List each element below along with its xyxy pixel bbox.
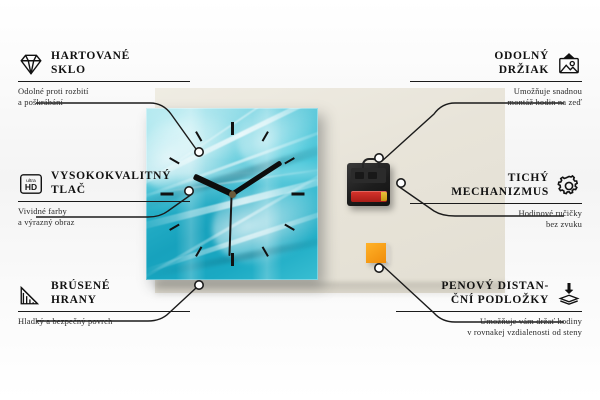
feature-desc-line2: a poškrábání <box>18 97 190 108</box>
feature-header: HARTOVANÉ SKLO <box>18 50 190 77</box>
feature-desc-line1: Umožňuje vám držať hodiny <box>396 316 582 327</box>
divider <box>396 311 582 312</box>
divider <box>410 81 582 82</box>
feature-header: ODOLNÝ DRŽIAK <box>410 50 582 77</box>
feature-desc-line1: Odolné proti rozbití <box>18 86 190 97</box>
divider <box>410 203 582 204</box>
infographic-canvas: HARTOVANÉ SKLO Odolné proti rozbití a po… <box>0 0 600 400</box>
beveled-edge-icon <box>18 281 44 307</box>
feature-desc-line2: montáž hodin na zeď <box>410 97 582 108</box>
battery-aa <box>351 191 387 202</box>
feature-hd-print: ultra HD VYSOKOKVALITNÝ TLAČ Vividné far… <box>18 170 190 228</box>
feature-desc-line1: Hodinové ručičky <box>410 208 582 219</box>
mechanism-body-plate <box>351 168 386 183</box>
divider <box>18 81 190 82</box>
divider <box>18 311 190 312</box>
feature-title: ODOLNÝ DRŽIAK <box>494 50 549 77</box>
feature-title: VYSOKOKVALITNÝ TLAČ <box>51 170 171 197</box>
feature-title: TICHÝ MECHANIZMUS <box>451 172 549 199</box>
feature-desc-line1: Umožňuje snadnou <box>410 86 582 97</box>
feature-header: TICHÝ MECHANIZMUS <box>410 172 582 199</box>
feature-header: PENOVÝ DISTAN- ČNÍ PODLOŽKY <box>396 280 582 307</box>
feature-title: PENOVÝ DISTAN- ČNÍ PODLOŽKY <box>441 280 549 307</box>
ultra-hd-icon: ultra HD <box>18 171 44 197</box>
feature-header: ultra HD VYSOKOKVALITNÝ TLAČ <box>18 170 190 197</box>
feature-desc-line1: Vividné farby <box>18 206 190 217</box>
feature-title: HARTOVANÉ SKLO <box>51 50 130 77</box>
feature-title: BRÚSENÉ HRANY <box>51 280 110 307</box>
feature-desc-line1: Hladký a bezpečný povrch <box>18 316 190 327</box>
feature-header: BRÚSENÉ HRANY <box>18 280 190 307</box>
wall-hanging-frame-icon <box>556 51 582 77</box>
diamond-icon <box>18 51 44 77</box>
svg-text:HD: HD <box>25 182 37 192</box>
feature-desc-line2: a výrazný obraz <box>18 217 190 228</box>
divider <box>18 201 190 202</box>
clock-mechanism-part <box>347 163 390 206</box>
feature-durable-holder: ODOLNÝ DRŽIAK Umožňuje snadnou montáž ho… <box>410 50 582 108</box>
foam-spacer-pad-part <box>366 243 386 263</box>
feature-desc-line2: bez zvuku <box>410 219 582 230</box>
feature-tempered-glass: HARTOVANÉ SKLO Odolné proti rozbití a po… <box>18 50 190 108</box>
press-down-layers-icon <box>556 281 582 307</box>
feature-beveled-edges: BRÚSENÉ HRANY Hladký a bezpečný povrch <box>18 280 190 327</box>
feature-foam-spacers: PENOVÝ DISTAN- ČNÍ PODLOŽKY Umožňuje vám… <box>396 280 582 338</box>
feature-silent-mechanism: TICHÝ MECHANIZMUS Hodinové ručičky bez z… <box>410 172 582 230</box>
feature-desc-line2: v rovnakej vzdialenosti od steny <box>396 327 582 338</box>
clock-center-cap <box>229 191 236 198</box>
gear-icon <box>556 173 582 199</box>
